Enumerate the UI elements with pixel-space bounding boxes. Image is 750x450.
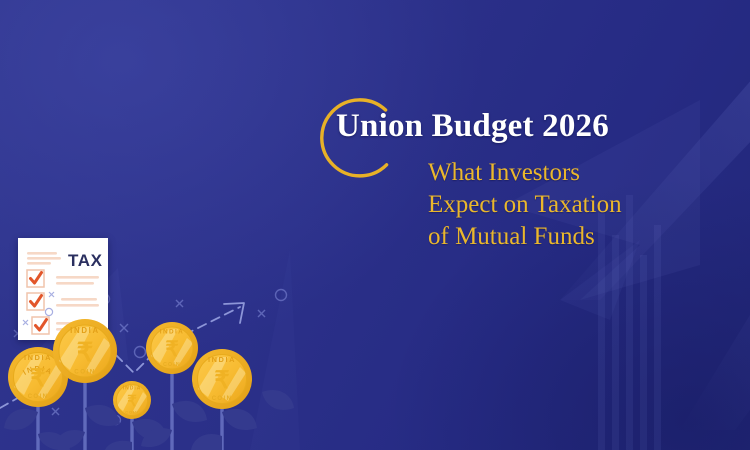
- svg-text:INDIA: INDIA: [160, 329, 184, 336]
- coin: INDIA COIN ₹: [192, 349, 252, 409]
- svg-text:COIN: COIN: [212, 396, 233, 402]
- svg-text:₹: ₹: [214, 367, 229, 394]
- page-title: Union Budget 2026: [336, 108, 609, 145]
- svg-text:₹: ₹: [165, 338, 178, 361]
- svg-text:INDIA: INDIA: [123, 386, 142, 392]
- svg-text:₹: ₹: [30, 365, 45, 392]
- svg-text:INDIA: INDIA: [70, 326, 100, 335]
- svg-text:COIN: COIN: [163, 362, 181, 368]
- union-budget-banner: Union Budget 2026 What Investors Expect …: [0, 0, 750, 450]
- page-subtitle: What Investors Expect on Taxation of Mut…: [428, 157, 728, 253]
- svg-text:COIN: COIN: [28, 394, 49, 400]
- coin: INDIA COIN ₹: [146, 322, 198, 374]
- subtitle-line-1: What Investors: [428, 157, 728, 189]
- coin-group: INDIA INDIA COIN ₹ INDIA COIN: [0, 0, 300, 450]
- coin: INDIA COIN ₹: [53, 319, 117, 383]
- svg-text:INDIA: INDIA: [208, 355, 236, 364]
- svg-text:₹: ₹: [77, 337, 94, 367]
- svg-text:COIN: COIN: [125, 410, 139, 415]
- coin: INDIA COIN ₹: [113, 381, 151, 419]
- subtitle-line-3: of Mutual Funds: [428, 221, 728, 253]
- svg-text:₹: ₹: [127, 393, 137, 410]
- subtitle-line-2: Expect on Taxation: [428, 189, 728, 221]
- svg-text:COIN: COIN: [74, 369, 95, 376]
- svg-text:INDIA: INDIA: [24, 353, 52, 362]
